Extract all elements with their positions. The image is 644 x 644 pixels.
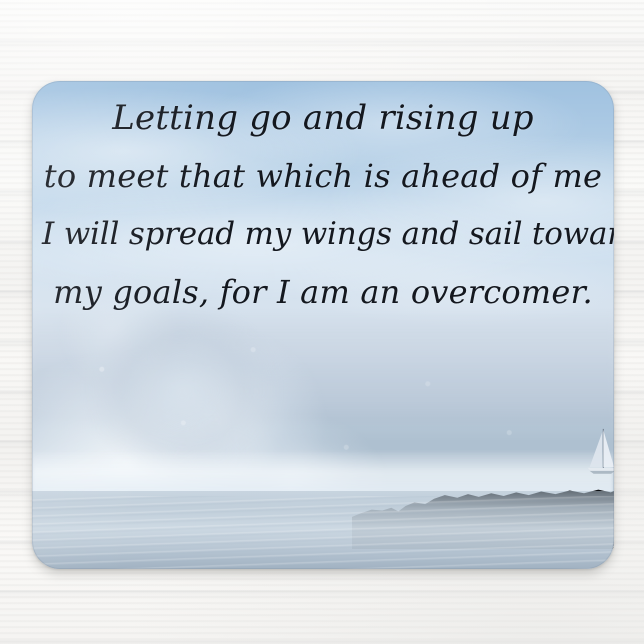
mousepad[interactable]: Letting go and rising up to meet that wh…: [32, 81, 614, 569]
quote-line-1: Letting go and rising up: [42, 89, 604, 147]
scene: Letting go and rising up to meet that wh…: [0, 0, 644, 644]
sea-ripple-texture: [32, 496, 614, 569]
quote-line-3: I will spread my wings and sail towards: [42, 205, 604, 263]
quote-line-4: my goals, for I am an overcomer.: [42, 263, 604, 321]
sailboat: [581, 425, 614, 484]
quote-text-block: Letting go and rising up to meet that wh…: [32, 89, 614, 321]
quote-line-2: to meet that which is ahead of me: [42, 147, 604, 205]
